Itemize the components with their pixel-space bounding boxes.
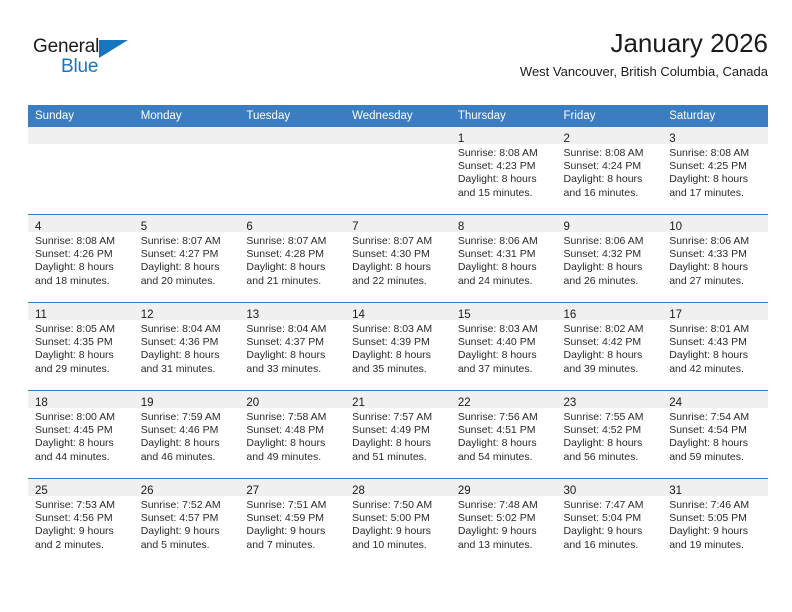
daylight-text-line2: and 26 minutes. [564,275,658,288]
day-details: Sunrise: 8:07 AMSunset: 4:28 PMDaylight:… [239,232,345,288]
sunrise-text: Sunrise: 8:06 AM [669,235,763,248]
day-cell-inner [345,127,451,214]
day-number-band: 9 [557,215,663,232]
logo-text-general: General [33,36,99,58]
day-number-band: 8 [451,215,557,232]
sunset-text: Sunset: 4:46 PM [141,424,235,437]
sunrise-text: Sunrise: 7:48 AM [458,499,552,512]
calendar-day-cell[interactable]: 20Sunrise: 7:58 AMSunset: 4:48 PMDayligh… [239,391,345,479]
daylight-text-line1: Daylight: 9 hours [352,525,446,538]
day-cell-inner: 16Sunrise: 8:02 AMSunset: 4:42 PMDayligh… [557,303,663,390]
day-number-band: 6 [239,215,345,232]
daylight-text-line1: Daylight: 8 hours [458,261,552,274]
daylight-text-line2: and 59 minutes. [669,451,763,464]
sunrise-text: Sunrise: 7:54 AM [669,411,763,424]
page-header: General Blue January 2026 West Vancouver… [28,28,768,94]
day-details: Sunrise: 7:53 AMSunset: 4:56 PMDaylight:… [28,496,134,552]
day-number: 20 [246,397,259,409]
day-number-band: 11 [28,303,134,320]
sunset-text: Sunset: 5:02 PM [458,512,552,525]
sunrise-text: Sunrise: 8:08 AM [564,147,658,160]
daylight-text-line1: Daylight: 9 hours [564,525,658,538]
daylight-text-line1: Daylight: 8 hours [564,261,658,274]
sunrise-text: Sunrise: 8:00 AM [35,411,129,424]
sunset-text: Sunset: 5:00 PM [352,512,446,525]
location-subtitle: West Vancouver, British Columbia, Canada [520,64,768,80]
calendar-day-cell[interactable]: 7Sunrise: 8:07 AMSunset: 4:30 PMDaylight… [345,215,451,303]
daylight-text-line1: Daylight: 9 hours [669,525,763,538]
calendar-day-cell[interactable]: 1Sunrise: 8:08 AMSunset: 4:23 PMDaylight… [451,127,557,215]
daylight-text-line2: and 51 minutes. [352,451,446,464]
day-details: Sunrise: 7:50 AMSunset: 5:00 PMDaylight:… [345,496,451,552]
day-number: 11 [35,309,47,321]
day-details: Sunrise: 7:58 AMSunset: 4:48 PMDaylight:… [239,408,345,464]
sunrise-text: Sunrise: 7:58 AM [246,411,340,424]
calendar-day-cell[interactable]: 18Sunrise: 8:00 AMSunset: 4:45 PMDayligh… [28,391,134,479]
day-details: Sunrise: 8:06 AMSunset: 4:31 PMDaylight:… [451,232,557,288]
calendar-day-cell[interactable]: 4Sunrise: 8:08 AMSunset: 4:26 PMDaylight… [28,215,134,303]
sunrise-text: Sunrise: 7:47 AM [564,499,658,512]
daylight-text-line1: Daylight: 8 hours [246,261,340,274]
daylight-text-line2: and 24 minutes. [458,275,552,288]
day-number: 30 [564,485,577,497]
calendar-day-cell[interactable]: 5Sunrise: 8:07 AMSunset: 4:27 PMDaylight… [134,215,240,303]
day-details: Sunrise: 8:08 AMSunset: 4:23 PMDaylight:… [451,144,557,200]
day-number: 3 [669,133,675,145]
day-number-band [239,127,345,144]
day-cell-inner: 12Sunrise: 8:04 AMSunset: 4:36 PMDayligh… [134,303,240,390]
sunset-text: Sunset: 5:05 PM [669,512,763,525]
calendar-day-cell[interactable]: 22Sunrise: 7:56 AMSunset: 4:51 PMDayligh… [451,391,557,479]
calendar-day-cell[interactable]: 23Sunrise: 7:55 AMSunset: 4:52 PMDayligh… [557,391,663,479]
weekday-header-monday: Monday [134,105,240,127]
day-number-band [134,127,240,144]
calendar-day-cell[interactable]: 2Sunrise: 8:08 AMSunset: 4:24 PMDaylight… [557,127,663,215]
day-number-band: 28 [345,479,451,496]
title-block: January 2026 West Vancouver, British Col… [520,28,768,80]
day-cell-inner: 23Sunrise: 7:55 AMSunset: 4:52 PMDayligh… [557,391,663,478]
day-cell-inner: 9Sunrise: 8:06 AMSunset: 4:32 PMDaylight… [557,215,663,302]
weekday-header-saturday: Saturday [662,105,768,127]
sunset-text: Sunset: 4:54 PM [669,424,763,437]
day-details: Sunrise: 8:00 AMSunset: 4:45 PMDaylight:… [28,408,134,464]
logo-triangle-icon [99,40,128,58]
daylight-text-line2: and 21 minutes. [246,275,340,288]
daylight-text-line2: and 44 minutes. [35,451,129,464]
day-number: 23 [564,397,577,409]
day-cell-inner: 2Sunrise: 8:08 AMSunset: 4:24 PMDaylight… [557,127,663,214]
daylight-text-line1: Daylight: 8 hours [141,261,235,274]
day-number: 7 [352,221,358,233]
day-number-band: 5 [134,215,240,232]
sunrise-text: Sunrise: 8:04 AM [141,323,235,336]
daylight-text-line2: and 5 minutes. [141,539,235,552]
calendar-day-cell[interactable]: 19Sunrise: 7:59 AMSunset: 4:46 PMDayligh… [134,391,240,479]
daylight-text-line2: and 49 minutes. [246,451,340,464]
daylight-text-line1: Daylight: 8 hours [35,349,129,362]
sunrise-text: Sunrise: 8:03 AM [352,323,446,336]
calendar-day-cell-empty [28,127,134,215]
day-details: Sunrise: 8:04 AMSunset: 4:36 PMDaylight:… [134,320,240,376]
calendar-day-cell[interactable]: 24Sunrise: 7:54 AMSunset: 4:54 PMDayligh… [662,391,768,479]
day-cell-inner: 10Sunrise: 8:06 AMSunset: 4:33 PMDayligh… [662,215,768,302]
day-number: 21 [352,397,365,409]
day-number: 6 [246,221,252,233]
day-cell-inner: 22Sunrise: 7:56 AMSunset: 4:51 PMDayligh… [451,391,557,478]
sunrise-text: Sunrise: 7:53 AM [35,499,129,512]
sunrise-text: Sunrise: 8:01 AM [669,323,763,336]
daylight-text-line2: and 2 minutes. [35,539,129,552]
daylight-text-line1: Daylight: 8 hours [669,261,763,274]
day-number-band: 10 [662,215,768,232]
daylight-text-line1: Daylight: 8 hours [458,349,552,362]
sunrise-text: Sunrise: 8:03 AM [458,323,552,336]
calendar-day-cell[interactable]: 25Sunrise: 7:53 AMSunset: 4:56 PMDayligh… [28,479,134,567]
daylight-text-line2: and 39 minutes. [564,363,658,376]
sunrise-text: Sunrise: 8:08 AM [669,147,763,160]
logo-text-blue: Blue [61,56,98,78]
day-number: 29 [458,485,471,497]
day-cell-inner: 1Sunrise: 8:08 AMSunset: 4:23 PMDaylight… [451,127,557,214]
day-details: Sunrise: 7:51 AMSunset: 4:59 PMDaylight:… [239,496,345,552]
day-details: Sunrise: 7:47 AMSunset: 5:04 PMDaylight:… [557,496,663,552]
daylight-text-line2: and 20 minutes. [141,275,235,288]
daylight-text-line1: Daylight: 9 hours [35,525,129,538]
daylight-text-line2: and 17 minutes. [669,187,763,200]
daylight-text-line1: Daylight: 9 hours [246,525,340,538]
sunrise-text: Sunrise: 7:51 AM [246,499,340,512]
daylight-text-line2: and 27 minutes. [669,275,763,288]
daylight-text-line2: and 18 minutes. [35,275,129,288]
sunset-text: Sunset: 4:36 PM [141,336,235,349]
sunset-text: Sunset: 4:42 PM [564,336,658,349]
day-details: Sunrise: 7:46 AMSunset: 5:05 PMDaylight:… [662,496,768,552]
calendar-day-cell[interactable]: 16Sunrise: 8:02 AMSunset: 4:42 PMDayligh… [557,303,663,391]
day-cell-inner: 17Sunrise: 8:01 AMSunset: 4:43 PMDayligh… [662,303,768,390]
day-cell-inner: 29Sunrise: 7:48 AMSunset: 5:02 PMDayligh… [451,479,557,566]
day-number-band [28,127,134,144]
daylight-text-line2: and 33 minutes. [246,363,340,376]
daylight-text-line2: and 7 minutes. [246,539,340,552]
calendar-day-cell[interactable]: 3Sunrise: 8:08 AMSunset: 4:25 PMDaylight… [662,127,768,215]
day-number-band: 12 [134,303,240,320]
daylight-text-line2: and 56 minutes. [564,451,658,464]
day-number-band: 25 [28,479,134,496]
day-number-band: 23 [557,391,663,408]
daylight-text-line1: Daylight: 8 hours [564,173,658,186]
daylight-text-line1: Daylight: 8 hours [246,437,340,450]
day-cell-inner: 3Sunrise: 8:08 AMSunset: 4:25 PMDaylight… [662,127,768,214]
sunset-text: Sunset: 4:27 PM [141,248,235,261]
sunrise-text: Sunrise: 7:56 AM [458,411,552,424]
daylight-text-line2: and 31 minutes. [141,363,235,376]
day-details: Sunrise: 7:57 AMSunset: 4:49 PMDaylight:… [345,408,451,464]
day-number: 2 [564,133,570,145]
day-details: Sunrise: 8:02 AMSunset: 4:42 PMDaylight:… [557,320,663,376]
daylight-text-line2: and 37 minutes. [458,363,552,376]
daylight-text-line1: Daylight: 8 hours [352,437,446,450]
daylight-text-line1: Daylight: 8 hours [35,261,129,274]
sunrise-text: Sunrise: 8:07 AM [141,235,235,248]
daylight-text-line2: and 29 minutes. [35,363,129,376]
day-cell-inner: 7Sunrise: 8:07 AMSunset: 4:30 PMDaylight… [345,215,451,302]
calendar-day-cell[interactable]: 28Sunrise: 7:50 AMSunset: 5:00 PMDayligh… [345,479,451,567]
day-number-band: 16 [557,303,663,320]
general-blue-logo[interactable]: General Blue [33,36,148,80]
day-details: Sunrise: 7:55 AMSunset: 4:52 PMDaylight:… [557,408,663,464]
calendar-week-row: 25Sunrise: 7:53 AMSunset: 4:56 PMDayligh… [28,479,768,567]
daylight-text-line1: Daylight: 8 hours [35,437,129,450]
day-details: Sunrise: 8:03 AMSunset: 4:40 PMDaylight:… [451,320,557,376]
day-number-band: 13 [239,303,345,320]
calendar-week-row: 11Sunrise: 8:05 AMSunset: 4:35 PMDayligh… [28,303,768,391]
day-cell-inner: 6Sunrise: 8:07 AMSunset: 4:28 PMDaylight… [239,215,345,302]
day-cell-inner: 19Sunrise: 7:59 AMSunset: 4:46 PMDayligh… [134,391,240,478]
day-number-band: 19 [134,391,240,408]
day-details: Sunrise: 7:54 AMSunset: 4:54 PMDaylight:… [662,408,768,464]
calendar-day-cell[interactable]: 10Sunrise: 8:06 AMSunset: 4:33 PMDayligh… [662,215,768,303]
calendar-day-cell-empty [239,127,345,215]
day-details: Sunrise: 7:56 AMSunset: 4:51 PMDaylight:… [451,408,557,464]
day-cell-inner: 28Sunrise: 7:50 AMSunset: 5:00 PMDayligh… [345,479,451,566]
day-number: 9 [564,221,570,233]
sunrise-text: Sunrise: 8:08 AM [458,147,552,160]
sunrise-text: Sunrise: 7:46 AM [669,499,763,512]
day-number-band: 15 [451,303,557,320]
day-number-band: 31 [662,479,768,496]
sunrise-text: Sunrise: 7:57 AM [352,411,446,424]
day-number-band: 22 [451,391,557,408]
day-number: 25 [35,485,48,497]
daylight-text-line2: and 35 minutes. [352,363,446,376]
day-details: Sunrise: 8:01 AMSunset: 4:43 PMDaylight:… [662,320,768,376]
day-number: 31 [669,485,682,497]
sunrise-text: Sunrise: 7:50 AM [352,499,446,512]
calendar-day-cell[interactable]: 11Sunrise: 8:05 AMSunset: 4:35 PMDayligh… [28,303,134,391]
calendar-page: General Blue January 2026 West Vancouver… [0,0,792,612]
calendar-day-cell[interactable]: 9Sunrise: 8:06 AMSunset: 4:32 PMDaylight… [557,215,663,303]
calendar-header-row: Sunday Monday Tuesday Wednesday Thursday… [28,105,768,127]
day-number: 16 [564,309,577,321]
calendar-day-cell[interactable]: 30Sunrise: 7:47 AMSunset: 5:04 PMDayligh… [557,479,663,567]
sunset-text: Sunset: 4:26 PM [35,248,129,261]
day-details: Sunrise: 8:07 AMSunset: 4:27 PMDaylight:… [134,232,240,288]
sunset-text: Sunset: 4:25 PM [669,160,763,173]
day-cell-inner: 13Sunrise: 8:04 AMSunset: 4:37 PMDayligh… [239,303,345,390]
sunrise-text: Sunrise: 7:59 AM [141,411,235,424]
weekday-header-tuesday: Tuesday [239,105,345,127]
daylight-text-line1: Daylight: 9 hours [458,525,552,538]
day-details: Sunrise: 8:04 AMSunset: 4:37 PMDaylight:… [239,320,345,376]
sunset-text: Sunset: 4:49 PM [352,424,446,437]
calendar-week-row: 4Sunrise: 8:08 AMSunset: 4:26 PMDaylight… [28,215,768,303]
sunrise-text: Sunrise: 8:07 AM [352,235,446,248]
day-cell-inner: 21Sunrise: 7:57 AMSunset: 4:49 PMDayligh… [345,391,451,478]
day-number-band: 17 [662,303,768,320]
sunset-text: Sunset: 4:45 PM [35,424,129,437]
daylight-text-line1: Daylight: 9 hours [141,525,235,538]
daylight-text-line2: and 13 minutes. [458,539,552,552]
day-cell-inner [239,127,345,214]
sunset-text: Sunset: 4:28 PM [246,248,340,261]
day-cell-inner: 4Sunrise: 8:08 AMSunset: 4:26 PMDaylight… [28,215,134,302]
day-cell-inner: 14Sunrise: 8:03 AMSunset: 4:39 PMDayligh… [345,303,451,390]
calendar-day-cell[interactable]: 6Sunrise: 8:07 AMSunset: 4:28 PMDaylight… [239,215,345,303]
day-details: Sunrise: 8:06 AMSunset: 4:32 PMDaylight:… [557,232,663,288]
sunset-text: Sunset: 4:39 PM [352,336,446,349]
calendar-day-cell-empty [134,127,240,215]
weekday-header-thursday: Thursday [451,105,557,127]
daylight-text-line1: Daylight: 8 hours [246,349,340,362]
sunrise-text: Sunrise: 8:06 AM [458,235,552,248]
calendar-body: 1Sunrise: 8:08 AMSunset: 4:23 PMDaylight… [28,127,768,566]
day-cell-inner [28,127,134,214]
sunset-text: Sunset: 4:23 PM [458,160,552,173]
calendar-day-cell[interactable]: 27Sunrise: 7:51 AMSunset: 4:59 PMDayligh… [239,479,345,567]
day-cell-inner: 15Sunrise: 8:03 AMSunset: 4:40 PMDayligh… [451,303,557,390]
daylight-text-line2: and 16 minutes. [564,539,658,552]
day-number: 27 [246,485,259,497]
sunset-text: Sunset: 4:30 PM [352,248,446,261]
daylight-text-line1: Daylight: 8 hours [669,173,763,186]
sunset-text: Sunset: 5:04 PM [564,512,658,525]
day-number: 13 [246,309,259,321]
day-number-band: 29 [451,479,557,496]
day-cell-inner: 25Sunrise: 7:53 AMSunset: 4:56 PMDayligh… [28,479,134,566]
day-cell-inner: 30Sunrise: 7:47 AMSunset: 5:04 PMDayligh… [557,479,663,566]
day-number-band: 4 [28,215,134,232]
calendar-day-cell[interactable]: 12Sunrise: 8:04 AMSunset: 4:36 PMDayligh… [134,303,240,391]
calendar-day-cell[interactable]: 26Sunrise: 7:52 AMSunset: 4:57 PMDayligh… [134,479,240,567]
daylight-text-line2: and 42 minutes. [669,363,763,376]
day-number-band: 7 [345,215,451,232]
calendar-day-cell[interactable]: 21Sunrise: 7:57 AMSunset: 4:49 PMDayligh… [345,391,451,479]
weekday-header-wednesday: Wednesday [345,105,451,127]
calendar-day-cell[interactable]: 31Sunrise: 7:46 AMSunset: 5:05 PMDayligh… [662,479,768,567]
day-number-band: 1 [451,127,557,144]
daylight-text-line1: Daylight: 8 hours [458,437,552,450]
calendar-day-cell[interactable]: 8Sunrise: 8:06 AMSunset: 4:31 PMDaylight… [451,215,557,303]
day-details: Sunrise: 8:06 AMSunset: 4:33 PMDaylight:… [662,232,768,288]
day-details: Sunrise: 8:07 AMSunset: 4:30 PMDaylight:… [345,232,451,288]
day-cell-inner: 31Sunrise: 7:46 AMSunset: 5:05 PMDayligh… [662,479,768,566]
calendar-day-cell[interactable]: 29Sunrise: 7:48 AMSunset: 5:02 PMDayligh… [451,479,557,567]
day-details: Sunrise: 7:48 AMSunset: 5:02 PMDaylight:… [451,496,557,552]
day-number-band: 24 [662,391,768,408]
day-number: 18 [35,397,48,409]
day-cell-inner: 20Sunrise: 7:58 AMSunset: 4:48 PMDayligh… [239,391,345,478]
calendar-day-cell[interactable]: 13Sunrise: 8:04 AMSunset: 4:37 PMDayligh… [239,303,345,391]
day-details: Sunrise: 8:08 AMSunset: 4:26 PMDaylight:… [28,232,134,288]
page-title: January 2026 [520,28,768,58]
sunrise-text: Sunrise: 8:06 AM [564,235,658,248]
sunset-text: Sunset: 4:24 PM [564,160,658,173]
day-cell-inner: 18Sunrise: 8:00 AMSunset: 4:45 PMDayligh… [28,391,134,478]
sunrise-text: Sunrise: 7:55 AM [564,411,658,424]
day-number-band: 3 [662,127,768,144]
daylight-text-line2: and 15 minutes. [458,187,552,200]
sunrise-text: Sunrise: 8:04 AM [246,323,340,336]
day-number-band: 21 [345,391,451,408]
calendar-day-cell[interactable]: 14Sunrise: 8:03 AMSunset: 4:39 PMDayligh… [345,303,451,391]
sunset-text: Sunset: 4:37 PM [246,336,340,349]
weekday-header-sunday: Sunday [28,105,134,127]
day-number: 12 [141,309,154,321]
weekday-header-friday: Friday [557,105,663,127]
sunset-text: Sunset: 4:51 PM [458,424,552,437]
day-details: Sunrise: 8:08 AMSunset: 4:25 PMDaylight:… [662,144,768,200]
day-details: Sunrise: 8:08 AMSunset: 4:24 PMDaylight:… [557,144,663,200]
day-cell-inner: 26Sunrise: 7:52 AMSunset: 4:57 PMDayligh… [134,479,240,566]
day-number-band: 30 [557,479,663,496]
calendar-day-cell[interactable]: 17Sunrise: 8:01 AMSunset: 4:43 PMDayligh… [662,303,768,391]
sunset-text: Sunset: 4:40 PM [458,336,552,349]
daylight-text-line1: Daylight: 8 hours [141,349,235,362]
sunset-text: Sunset: 4:43 PM [669,336,763,349]
day-number: 10 [669,221,682,233]
calendar-week-row: 1Sunrise: 8:08 AMSunset: 4:23 PMDaylight… [28,127,768,215]
day-number: 17 [669,309,682,321]
day-cell-inner: 8Sunrise: 8:06 AMSunset: 4:31 PMDaylight… [451,215,557,302]
sunset-text: Sunset: 4:33 PM [669,248,763,261]
sunset-text: Sunset: 4:35 PM [35,336,129,349]
sunset-text: Sunset: 4:57 PM [141,512,235,525]
sunset-text: Sunset: 4:31 PM [458,248,552,261]
sunrise-text: Sunrise: 7:52 AM [141,499,235,512]
daylight-text-line2: and 16 minutes. [564,187,658,200]
day-number: 26 [141,485,154,497]
day-number-band: 14 [345,303,451,320]
sunrise-text: Sunrise: 8:07 AM [246,235,340,248]
sunset-text: Sunset: 4:48 PM [246,424,340,437]
daylight-text-line1: Daylight: 8 hours [352,261,446,274]
sunset-text: Sunset: 4:52 PM [564,424,658,437]
day-number-band: 2 [557,127,663,144]
day-number: 14 [352,309,365,321]
day-number: 8 [458,221,464,233]
calendar-day-cell[interactable]: 15Sunrise: 8:03 AMSunset: 4:40 PMDayligh… [451,303,557,391]
day-number: 28 [352,485,365,497]
day-details: Sunrise: 7:52 AMSunset: 4:57 PMDaylight:… [134,496,240,552]
day-details: Sunrise: 7:59 AMSunset: 4:46 PMDaylight:… [134,408,240,464]
daylight-text-line2: and 46 minutes. [141,451,235,464]
day-details: Sunrise: 8:05 AMSunset: 4:35 PMDaylight:… [28,320,134,376]
calendar-week-row: 18Sunrise: 8:00 AMSunset: 4:45 PMDayligh… [28,391,768,479]
day-number-band: 27 [239,479,345,496]
sunset-text: Sunset: 4:32 PM [564,248,658,261]
daylight-text-line1: Daylight: 8 hours [141,437,235,450]
day-number: 22 [458,397,471,409]
day-number-band [345,127,451,144]
day-number: 4 [35,221,41,233]
day-cell-inner: 27Sunrise: 7:51 AMSunset: 4:59 PMDayligh… [239,479,345,566]
day-number-band: 18 [28,391,134,408]
day-number-band: 26 [134,479,240,496]
daylight-text-line1: Daylight: 8 hours [352,349,446,362]
day-number: 15 [458,309,471,321]
day-number: 19 [141,397,154,409]
calendar-table: Sunday Monday Tuesday Wednesday Thursday… [28,105,768,566]
sunrise-text: Sunrise: 8:05 AM [35,323,129,336]
calendar-day-cell-empty [345,127,451,215]
daylight-text-line1: Daylight: 8 hours [564,349,658,362]
daylight-text-line1: Daylight: 8 hours [564,437,658,450]
day-number: 1 [458,133,464,145]
day-cell-inner: 24Sunrise: 7:54 AMSunset: 4:54 PMDayligh… [662,391,768,478]
daylight-text-line1: Daylight: 8 hours [458,173,552,186]
sunrise-text: Sunrise: 8:02 AM [564,323,658,336]
day-cell-inner: 11Sunrise: 8:05 AMSunset: 4:35 PMDayligh… [28,303,134,390]
